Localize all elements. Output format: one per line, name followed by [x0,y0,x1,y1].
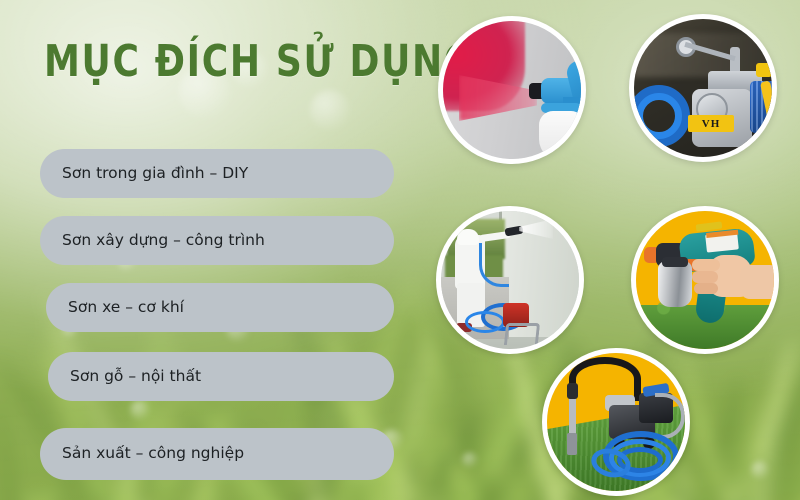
blue-hose-coil-inner [636,93,682,139]
wrist [740,265,779,299]
photo-circle-industrial-airless-pump-vh: VH [629,14,777,162]
list-item-label: Sơn gỗ – nội thất [70,369,201,385]
list-item[interactable]: Sản xuất – công nghiệp [40,428,394,480]
worker-hood [457,229,479,245]
photo-circle-handheld-blue-spray-gun-painting-wall [438,16,586,164]
wand-grip [567,383,578,399]
page-title: MỤC ĐÍCH SỬ DỤNG [44,40,475,84]
list-item-label: Sơn xe – cơ khí [68,300,184,316]
slide-canvas: MỤC ĐÍCH SỬ DỤNG Sơn trong gia đình – DI… [0,0,800,500]
vh-label: VH [688,115,734,132]
canister-collar [662,257,688,267]
list-item-label: Sơn trong gia đình – DIY [62,166,248,182]
vh-label-text: VH [702,118,721,130]
finger-3 [694,283,718,294]
photo-circle-worker-spraying-exterior-wall [436,206,584,354]
list-item-label: Sơn xây dựng – công trình [62,233,265,249]
list-item[interactable]: Sơn xây dựng – công trình [40,216,394,265]
steel-canister [658,261,692,307]
wand-tip [567,433,577,455]
yellow-cap [756,63,772,77]
photo-circle-airless-sprayer-with-blue-hose-coils [542,348,690,496]
paint-canister [539,111,585,161]
finger-2 [692,271,718,283]
list-item[interactable]: Sơn trong gia đình – DIY [40,149,394,198]
finger-1 [692,259,720,271]
sprayer-stand [504,323,540,345]
hose-coil-2 [465,311,505,333]
list-item[interactable]: Sơn xe – cơ khí [46,283,394,332]
list-item[interactable]: Sơn gỗ – nội thất [48,352,394,401]
list-item-label: Sản xuất – công nghiệp [62,446,244,462]
photo-circle-hand-holding-teal-spray-gun [631,206,779,354]
